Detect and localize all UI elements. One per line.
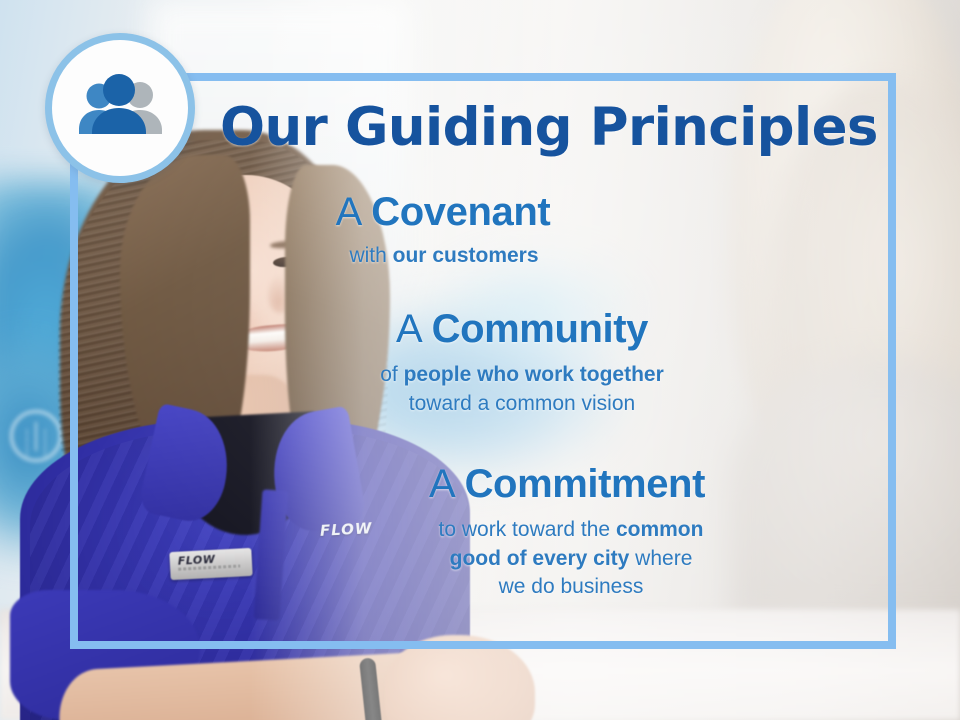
principle-heading: A Community xyxy=(70,308,896,351)
principle-subtext-line: good of every city where xyxy=(246,545,896,574)
principle-article: A xyxy=(429,462,453,506)
poster-canvas: FLOW FLOW Our Guiding Princip xyxy=(0,0,960,720)
poster-content: Our Guiding Principles A Covenant with o… xyxy=(70,73,896,649)
principle-subtext-line: of people who work together xyxy=(148,361,896,390)
principle-block-covenant: A Covenant with our customers xyxy=(70,191,896,271)
principle-block-commitment: A Commitment to work toward the commongo… xyxy=(70,463,896,602)
principle-keyword: Commitment xyxy=(465,462,705,506)
page-title: Our Guiding Principles xyxy=(220,100,880,156)
principle-heading: A Covenant xyxy=(70,191,896,234)
principle-keyword: Community xyxy=(432,307,648,351)
principle-subtext: of people who work togethertoward a comm… xyxy=(70,361,896,418)
principle-subtext-line: we do business xyxy=(246,573,896,602)
principle-subtext: to work toward the commongood of every c… xyxy=(70,516,896,602)
principle-subtext-line: to work toward the common xyxy=(246,516,896,545)
principle-subtext-line: toward a common vision xyxy=(148,390,896,419)
principle-subtext-line: with our customers xyxy=(70,242,818,271)
principle-block-community: A Community of people who work togethert… xyxy=(70,308,896,418)
principle-heading: A Commitment xyxy=(70,463,896,506)
principle-article: A xyxy=(396,307,420,351)
principle-article: A xyxy=(336,190,360,234)
principle-keyword: Covenant xyxy=(371,190,550,234)
principle-subtext: with our customers xyxy=(70,242,896,271)
